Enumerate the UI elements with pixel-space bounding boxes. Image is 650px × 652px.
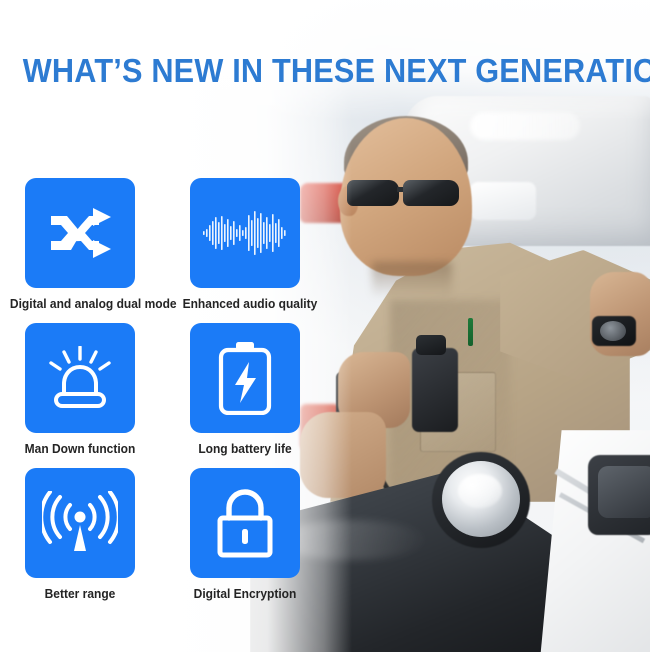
feature-item-dual-mode[interactable]: Digital and analog dual mode — [25, 178, 135, 311]
spotlight-reflection — [458, 474, 502, 508]
feature-tile[interactable] — [25, 178, 135, 288]
feature-label: Long battery life — [186, 442, 303, 456]
pocket-pen — [468, 318, 473, 346]
siren-icon — [46, 346, 114, 410]
battery-icon — [217, 341, 273, 415]
feature-item-range[interactable]: Better range — [25, 468, 135, 601]
feature-tile[interactable] — [190, 323, 300, 433]
feature-item-encryption[interactable]: Digital Encryption — [190, 468, 300, 601]
sunglasses-lens-left — [347, 180, 399, 206]
page-title: WHAT’S NEW IN THESE NEXT GENERATION RADI… — [23, 52, 628, 90]
feature-item-audio[interactable]: Enhanced audio quality — [190, 178, 300, 311]
side-mirror-glass — [598, 466, 650, 518]
feature-row: Better range Digital Encryption — [25, 468, 345, 601]
sunglasses-lens-right — [403, 180, 459, 206]
feature-tile[interactable] — [25, 323, 135, 433]
feature-grid: Digital and analog dual mode — [25, 178, 345, 613]
feature-label: Enhanced audio quality — [183, 297, 308, 311]
sunglasses — [345, 178, 467, 208]
promo-poster: WHAT’S NEW IN THESE NEXT GENERATION RADI… — [0, 0, 650, 652]
feature-item-man-down[interactable]: Man Down function — [25, 323, 135, 456]
lightbar-white — [470, 182, 536, 220]
lock-icon — [214, 488, 276, 558]
feature-label: Digital Encryption — [185, 587, 306, 601]
neck-shadow — [372, 262, 452, 298]
feature-label: Better range — [23, 587, 136, 601]
handheld-radio — [412, 348, 458, 432]
antenna-icon — [42, 491, 118, 555]
feature-row: Man Down function Long battery life — [25, 323, 345, 456]
feature-label: Digital and analog dual mode — [10, 297, 150, 311]
wristwatch-face — [600, 321, 626, 341]
shuffle-icon — [47, 207, 113, 259]
feature-item-battery[interactable]: Long battery life — [190, 323, 300, 456]
waveform-icon — [202, 208, 288, 258]
feature-tile[interactable] — [190, 468, 300, 578]
feature-tile[interactable] — [25, 468, 135, 578]
radio-top — [416, 335, 446, 355]
feature-label: Man Down function — [20, 442, 141, 456]
feature-tile[interactable] — [190, 178, 300, 288]
feature-row: Digital and analog dual mode — [25, 178, 345, 311]
